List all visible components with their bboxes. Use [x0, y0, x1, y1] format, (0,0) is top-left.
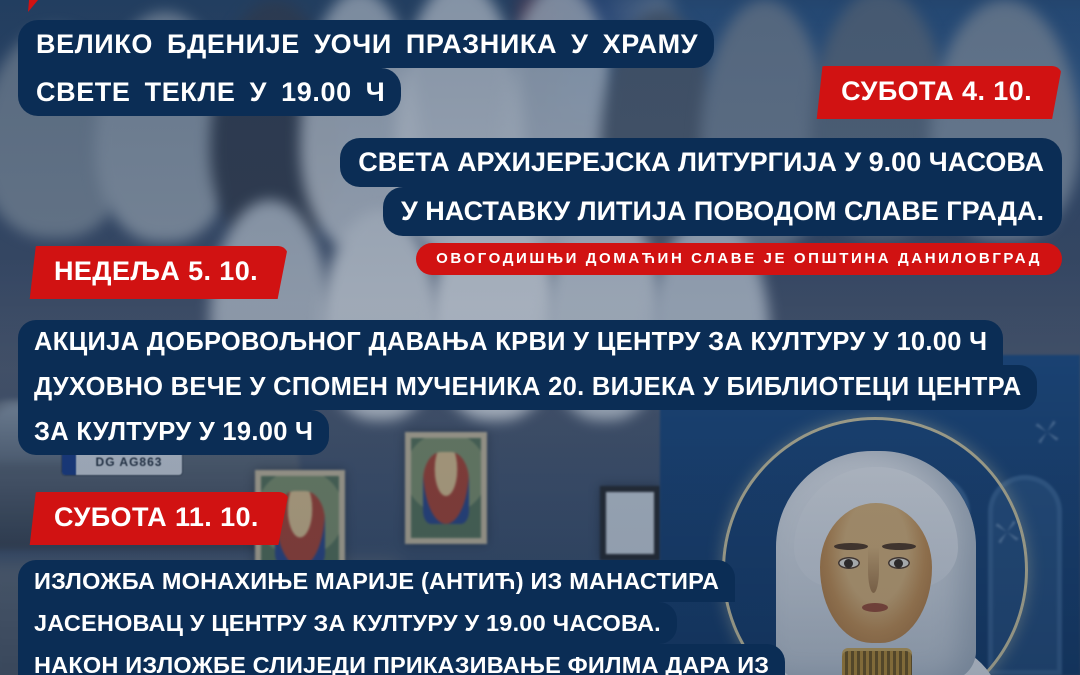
event-line: У НАСТАВКУ ЛИТИЈА ПОВОДОМ СЛАВЕ ГРАДА. — [383, 187, 1062, 236]
event-line: ВЕЛИКО БДЕНИЈЕ УОЧИ ПРАЗНИКА У ХРАМУ — [18, 20, 714, 68]
event-line: ЗА КУЛТУРУ У 19.00 Ч — [18, 410, 329, 455]
event-block-liturgija: СВЕТА АРХИЈЕРЕЈСКА ЛИТУРГИЈА У 9.00 ЧАСО… — [340, 138, 1062, 236]
date-banner-saturday-4-10: СУБОТА 4. 10. — [815, 66, 1062, 119]
date-banner-label: СУБОТА 4. 10. — [841, 76, 1032, 107]
event-line: НАКОН ИЗЛОЖБЕ СЛИЈЕДИ ПРИКАЗИВАЊЕ ФИЛМА … — [18, 644, 785, 675]
event-block-izlozba: ИЗЛОЖБА МОНАХИЊЕ МАРИЈЕ (АНТИЋ) ИЗ МАНАС… — [18, 560, 785, 675]
event-block-krv-duhovno-vece: АКЦИЈА ДОБРОВОЉНОГ ДАВАЊА КРВИ У ЦЕНТРУ … — [18, 320, 1037, 455]
date-banner-label: СУБОТА 11. 10. — [54, 502, 259, 533]
event-line: СВЕТА АРХИЈЕРЕЈСКА ЛИТУРГИЈА У 9.00 ЧАСО… — [340, 138, 1062, 187]
poster-canvas: DG AG863 — [0, 0, 1080, 675]
event-line: ЈАСЕНОВАЦ У ЦЕНТРУ ЗА КУЛТУРУ У 19.00 ЧА… — [18, 602, 677, 644]
event-line: АКЦИЈА ДОБРОВОЉНОГ ДАВАЊА КРВИ У ЦЕНТРУ … — [18, 320, 1003, 365]
date-banner-label: НЕДЕЉА 5. 10. — [54, 256, 258, 287]
event-line: СВЕТЕ ТЕКЛЕ У 19.00 Ч — [18, 68, 401, 116]
event-line: ДУХОВНО ВЕЧЕ У СПОМЕН МУЧЕНИКА 20. ВИЈЕК… — [18, 365, 1037, 410]
date-banner-saturday-11-10: СУБОТА 11. 10. — [28, 492, 289, 545]
host-announcement-strip: ОВОГОДИШЊИ ДОМАЋИН СЛАВЕ ЈЕ ОПШТИНА ДАНИ… — [416, 243, 1062, 275]
event-line: ИЗЛОЖБА МОНАХИЊЕ МАРИЈЕ (АНТИЋ) ИЗ МАНАС… — [18, 560, 735, 602]
event-block-bdenije: ВЕЛИКО БДЕНИЈЕ УОЧИ ПРАЗНИКА У ХРАМУ СВЕ… — [18, 20, 714, 116]
date-banner-sunday-5-10: НЕДЕЉА 5. 10. — [28, 246, 288, 299]
